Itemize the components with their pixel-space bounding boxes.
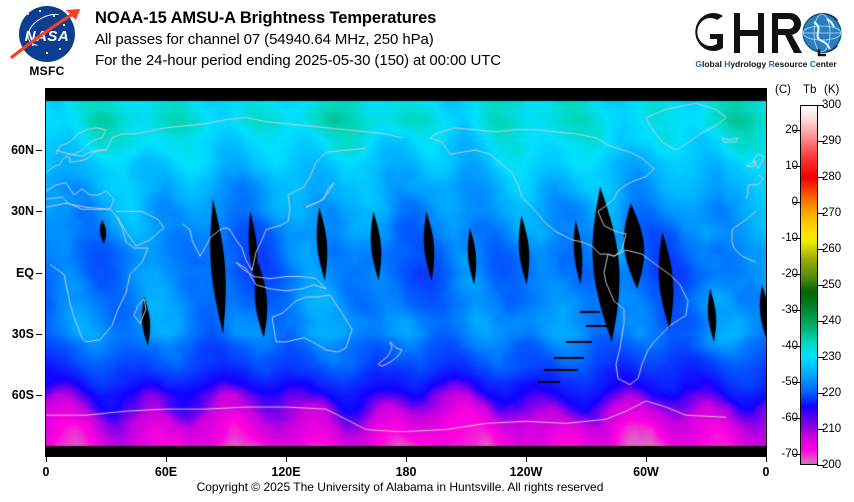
colorbar-celsius-tick — [793, 454, 800, 455]
ghrc-tagline: Global Hydrology Resource Center — [686, 59, 846, 69]
copyright-notice: Copyright © 2025 The University of Alaba… — [0, 480, 800, 494]
y-tick-label: 30S — [12, 327, 34, 341]
brightness-temperature-map — [46, 89, 766, 456]
colorbar-kelvin-label: 300 — [822, 99, 841, 111]
colorbar-kelvin-tick — [817, 357, 824, 358]
page-title: NOAA-15 AMSU-A Brightness Temperatures — [95, 8, 685, 29]
ghrc-logo: Global Hydrology Resource Center — [686, 6, 846, 80]
colorbar-gradient — [800, 105, 818, 465]
x-tick-label: 60E — [155, 465, 177, 479]
colorbar-kelvin-label: 240 — [822, 315, 841, 327]
x-tick-label: 120W — [510, 465, 543, 479]
colorbar-kelvin-tick — [817, 393, 824, 394]
header-text-block: NOAA-15 AMSU-A Brightness Temperatures A… — [95, 8, 685, 71]
colorbar-kelvin-tick — [817, 177, 824, 178]
colorbar-kelvin-label: 250 — [822, 279, 841, 291]
x-tick-mark — [766, 456, 767, 462]
colorbar-kelvin-tick — [817, 213, 824, 214]
y-tick-mark — [36, 211, 42, 212]
colorbar-kelvin-label: 210 — [822, 423, 841, 435]
colorbar-kelvin-tick — [817, 465, 824, 466]
colorbar-kelvin-label: 200 — [822, 459, 841, 471]
colorbar-celsius-tick — [793, 382, 800, 383]
y-tick-mark — [36, 334, 42, 335]
y-tick-label: EQ — [16, 266, 34, 280]
x-tick-label: 0 — [763, 465, 770, 479]
colorbar-variable: Tb — [803, 84, 816, 96]
colorbar-kelvin-tick — [817, 285, 824, 286]
x-tick-label: 180 — [396, 465, 417, 479]
colorbar-kelvin-tick — [817, 105, 824, 106]
colorbar-kelvin-tick — [817, 141, 824, 142]
colorbar-celsius-tick — [793, 274, 800, 275]
colorbar-unit-celsius: (C) — [775, 84, 791, 96]
colorbar-celsius-tick — [793, 166, 800, 167]
colorbar-kelvin-tick — [817, 321, 824, 322]
x-tick-label: 60W — [633, 465, 659, 479]
x-tick-label: 120E — [271, 465, 300, 479]
nasa-logo: NASA MSFC — [8, 4, 86, 86]
colorbar-celsius-tick — [793, 346, 800, 347]
colorbar-celsius-tick — [793, 310, 800, 311]
page-subtitle-period: For the 24-hour period ending 2025-05-30… — [95, 50, 685, 71]
x-tick-mark — [406, 456, 407, 462]
nasa-center-label: MSFC — [8, 64, 86, 78]
y-tick-mark — [36, 150, 42, 151]
y-tick-mark — [36, 273, 42, 274]
colorbar-celsius-tick — [793, 130, 800, 131]
colorbar-celsius-tick — [793, 238, 800, 239]
colorbar-kelvin-tick — [817, 249, 824, 250]
x-tick-label: 0 — [43, 465, 50, 479]
colorbar: (C) Tb (K) 20021022023024025026027028029… — [772, 84, 854, 474]
map-plot — [46, 89, 766, 456]
colorbar-kelvin-label: 220 — [822, 387, 841, 399]
x-tick-mark — [46, 456, 47, 462]
colorbar-celsius-tick — [793, 418, 800, 419]
colorbar-unit-kelvin: (K) — [824, 84, 839, 96]
x-tick-mark — [526, 456, 527, 462]
page-subtitle-channel: All passes for channel 07 (54940.64 MHz,… — [95, 29, 685, 50]
ghrc-acronym-icon — [686, 6, 846, 58]
y-tick-label: 60S — [12, 388, 34, 402]
colorbar-celsius-tick — [793, 202, 800, 203]
colorbar-kelvin-label: 230 — [822, 351, 841, 363]
map-y-axis: 60N30NEQ30S60S — [0, 89, 42, 456]
colorbar-kelvin-label: 290 — [822, 135, 841, 147]
x-tick-mark — [286, 456, 287, 462]
y-tick-mark — [36, 395, 42, 396]
x-tick-mark — [166, 456, 167, 462]
nasa-swoosh-icon — [6, 7, 88, 61]
colorbar-kelvin-label: 280 — [822, 171, 841, 183]
y-tick-label: 60N — [11, 143, 34, 157]
x-tick-mark — [646, 456, 647, 462]
colorbar-kelvin-tick — [817, 429, 824, 430]
colorbar-kelvin-label: 270 — [822, 207, 841, 219]
y-tick-label: 30N — [11, 204, 34, 218]
colorbar-kelvin-label: 260 — [822, 243, 841, 255]
